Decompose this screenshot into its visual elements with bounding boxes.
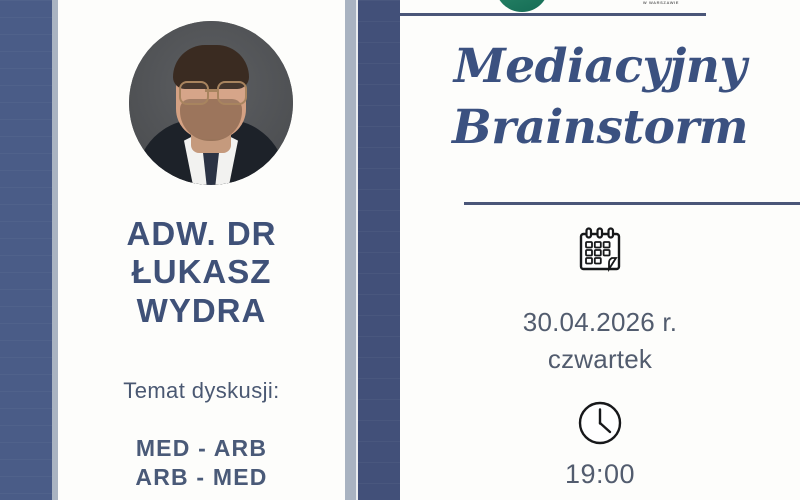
speaker-panel: ADW. DR ŁUKASZ WYDRA Temat dyskusji: MED…	[58, 0, 345, 500]
avatar-glasses-right-lens	[217, 81, 247, 105]
event-date: 30.04.2026 r. czwartek	[400, 304, 800, 378]
avatar-glasses-bridge	[205, 89, 217, 92]
speaker-name-line-2: ŁUKASZ	[132, 253, 272, 290]
organisation-logo-caption: W WARSZAWIE	[596, 0, 726, 6]
calendar-icon	[578, 227, 622, 278]
topic-label: Temat dyskusji:	[58, 378, 345, 404]
speaker-avatar	[129, 21, 293, 185]
event-date-line-2: czwartek	[400, 341, 800, 378]
speaker-name-line-1: ADW. DR	[127, 215, 277, 252]
event-title-line-1: Mediacyjny	[400, 36, 800, 97]
logo-caption-line-2: W WARSZAWIE	[643, 0, 679, 5]
avatar-glasses-left-lens	[179, 81, 209, 105]
bottom-divider-rule	[464, 202, 800, 205]
avatar-portrait-illustration	[129, 21, 293, 185]
clock-icon	[577, 400, 623, 451]
center-divider-dark	[358, 0, 400, 500]
event-title-line-2: Brainstorm	[400, 97, 800, 158]
center-divider-light	[345, 0, 356, 500]
top-divider-rule	[400, 13, 706, 16]
event-title: Mediacyjny Brainstorm	[400, 36, 800, 158]
event-date-line-1: 30.04.2026 r.	[400, 304, 800, 341]
left-decorative-band-dark	[0, 0, 52, 500]
topic-line-1: MED - ARB	[136, 435, 267, 461]
topic-values: MED - ARB ARB - MED	[58, 434, 345, 491]
topic-line-2: ARB - MED	[135, 464, 267, 490]
speaker-name-line-3: WYDRA	[137, 292, 267, 329]
event-time: 19:00	[400, 459, 800, 490]
event-details-panel: W WARSZAWIE Mediacyjny Brainstorm	[400, 0, 800, 500]
speaker-name: ADW. DR ŁUKASZ WYDRA	[58, 215, 345, 330]
event-poster: ADW. DR ŁUKASZ WYDRA Temat dyskusji: MED…	[0, 0, 800, 500]
organisation-logo-icon	[495, 0, 549, 12]
